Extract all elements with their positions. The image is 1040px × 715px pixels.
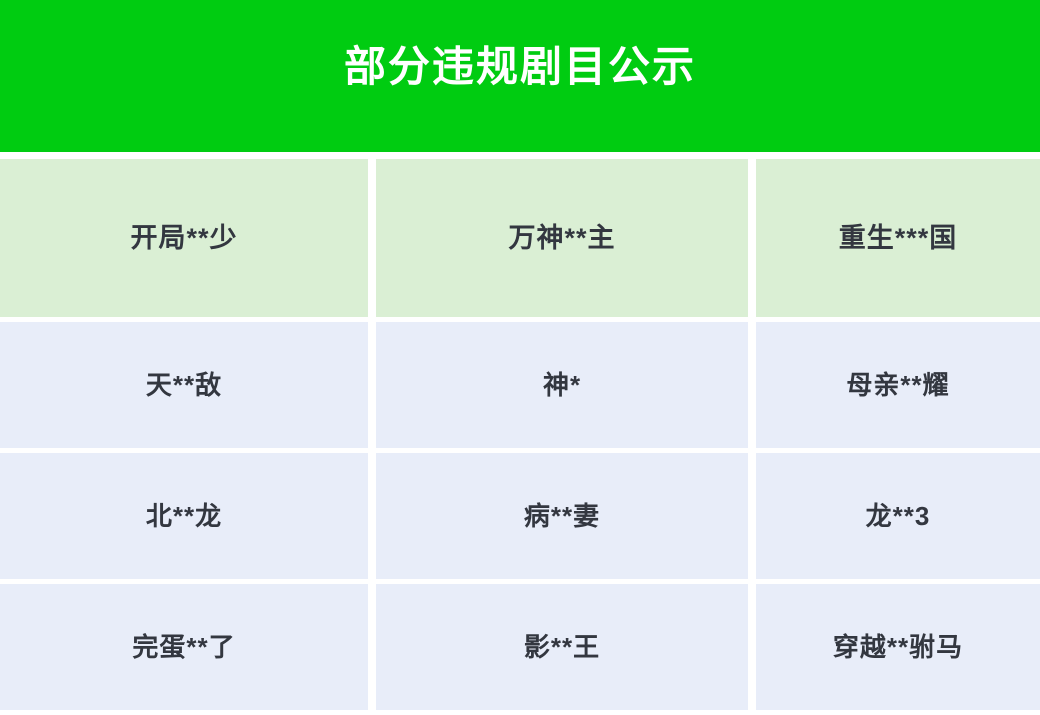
table-cell-label: 完蛋**了 bbox=[132, 634, 235, 660]
table-cell[interactable]: 影**王 bbox=[376, 584, 748, 710]
table-cell[interactable]: 万神**主 bbox=[376, 159, 748, 317]
table-cell-label: 穿越**驸马 bbox=[833, 634, 963, 660]
table-cell[interactable]: 开局**少 bbox=[0, 159, 368, 317]
table-cell-label: 开局**少 bbox=[130, 225, 237, 252]
header-banner: 部分违规剧目公示 bbox=[0, 0, 1040, 152]
table-cell[interactable]: 重生***国 bbox=[756, 159, 1040, 317]
violation-list-table: 开局**少 万神**主 重生***国 天**敌 神* 母亲**耀 北** bbox=[0, 159, 1040, 715]
table-cell[interactable]: 病**妻 bbox=[376, 453, 748, 579]
table-row: 开局**少 万神**主 重生***国 bbox=[0, 159, 1040, 317]
table-cell-label: 重生***国 bbox=[839, 225, 958, 252]
table-row: 天**敌 神* 母亲**耀 bbox=[0, 322, 1040, 448]
table-cell-label: 母亲**耀 bbox=[846, 372, 949, 398]
table-cell[interactable]: 母亲**耀 bbox=[756, 322, 1040, 448]
table-cell-label: 万神**主 bbox=[508, 225, 615, 252]
table-cell-label: 影**王 bbox=[524, 634, 600, 660]
table-cell[interactable]: 天**敌 bbox=[0, 322, 368, 448]
table-cell-label: 神* bbox=[543, 372, 581, 398]
table-cell[interactable]: 神* bbox=[376, 322, 748, 448]
table-row: 北**龙 病**妻 龙**3 bbox=[0, 453, 1040, 579]
table-cell[interactable]: 北**龙 bbox=[0, 453, 368, 579]
page-root: 部分违规剧目公示 开局**少 万神**主 重生***国 天**敌 神* 母亲 bbox=[0, 0, 1040, 714]
table-row: 完蛋**了 影**王 穿越**驸马 bbox=[0, 584, 1040, 710]
table-cell-label: 北**龙 bbox=[146, 503, 222, 529]
page-title: 部分违规剧目公示 bbox=[344, 46, 696, 88]
table-cell[interactable]: 完蛋**了 bbox=[0, 584, 368, 710]
table-cell-label: 病**妻 bbox=[524, 503, 600, 529]
table-cell[interactable]: 穿越**驸马 bbox=[756, 584, 1040, 710]
table-cell[interactable]: 龙**3 bbox=[756, 453, 1040, 579]
table-cell-label: 龙**3 bbox=[866, 503, 931, 529]
table-cell-label: 天**敌 bbox=[146, 372, 222, 398]
